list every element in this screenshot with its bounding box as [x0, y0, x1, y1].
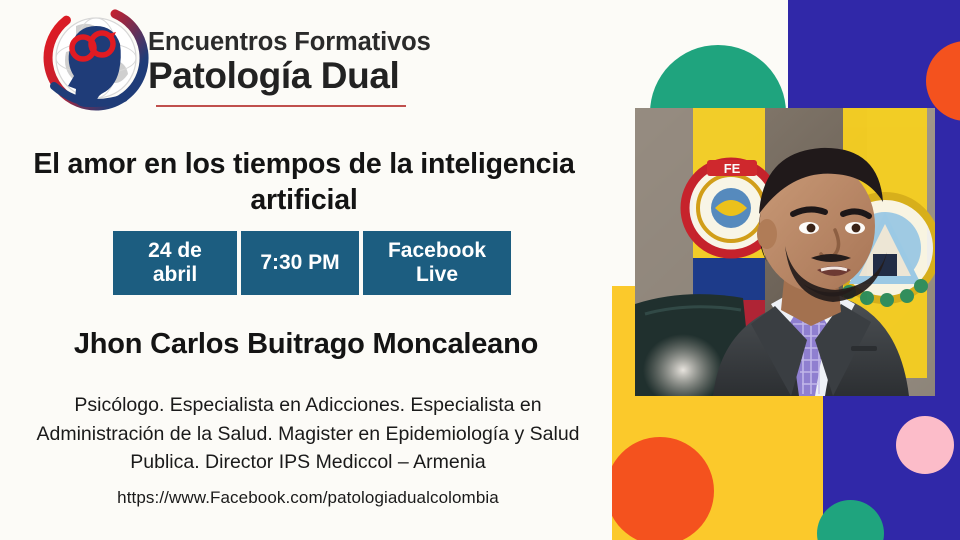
brand-line-2: Patología Dual: [148, 57, 468, 96]
brand-logo-text: Encuentros Formativos Patología Dual: [148, 30, 468, 95]
dual-pathology-brain-globe-logo-icon: [36, 4, 156, 112]
orange-circle-bottom-shape: [612, 437, 714, 540]
facebook-url[interactable]: https://www.Facebook.com/patologiadualco…: [14, 488, 602, 508]
badge-date: 24 de abril: [113, 231, 237, 295]
brand-line-1: Encuentros Formativos: [148, 30, 468, 56]
badge-time: 7:30 PM: [241, 231, 359, 295]
poster-content: Encuentros Formativos Patología Dual El …: [0, 0, 620, 540]
svg-text:FE: FE: [724, 161, 741, 176]
teal-circle-bottom-shape: [817, 500, 884, 540]
pink-circle-shape: [896, 416, 954, 474]
event-title: El amor en los tiempos de la inteligenci…: [0, 146, 608, 219]
event-info-badges: 24 de abril 7:30 PM Facebook Live: [113, 231, 511, 295]
event-poster: FE: [0, 0, 960, 540]
brand-logo: Encuentros Formativos Patología Dual: [36, 4, 456, 112]
brand-underline: [156, 105, 406, 107]
purple-lower-clip: [788, 396, 960, 540]
badge-platform: Facebook Live: [363, 231, 511, 295]
speaker-portrait-graphic: FE: [635, 108, 935, 396]
speaker-bio: Psicólogo. Especialista en Adicciones. E…: [14, 391, 602, 477]
purple-lower-block-shape: [823, 396, 960, 540]
speaker-name: Jhon Carlos Buitrago Moncaleano: [0, 328, 612, 361]
speaker-photo: FE: [635, 108, 935, 396]
